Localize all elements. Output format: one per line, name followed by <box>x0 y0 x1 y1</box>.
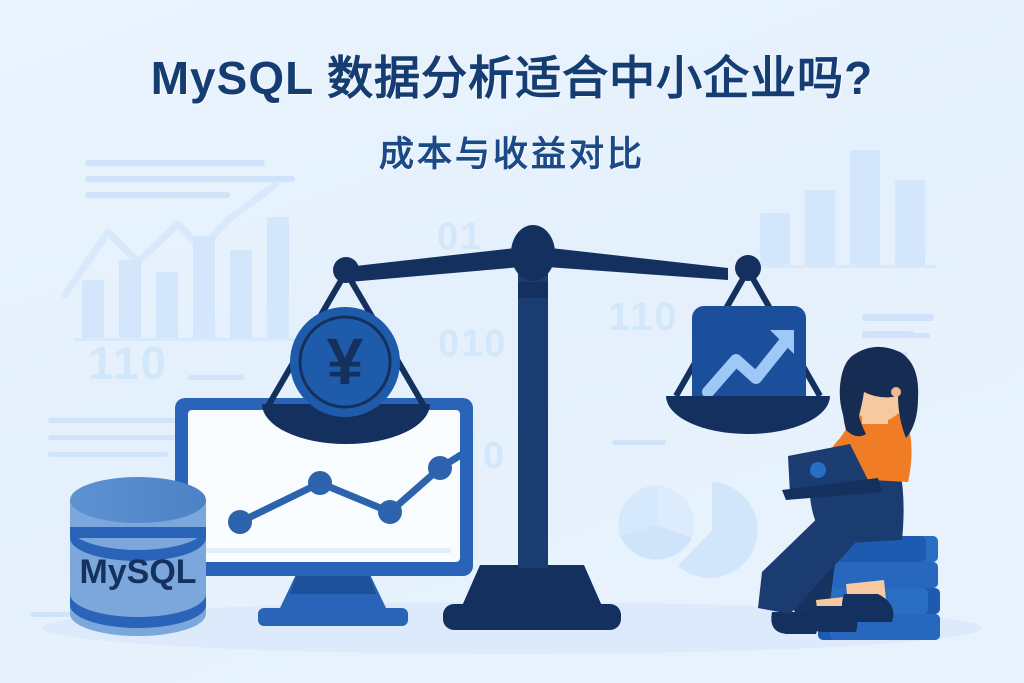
page-subtitle: 成本与收益对比 <box>0 126 1024 177</box>
mysql-database-cylinder: MySQL <box>70 477 206 636</box>
yen-coin: ¥ <box>290 307 400 417</box>
yen-symbol: ¥ <box>327 324 364 398</box>
database-label: MySQL <box>79 553 196 591</box>
page-title: MySQL 数据分析适合中小企业吗? <box>0 42 1024 108</box>
cover-illustration: 110 01 010 0 110 <box>0 0 1024 683</box>
headline-block: MySQL 数据分析适合中小企业吗? 成本与收益对比 <box>0 42 1024 177</box>
laptop-logo-icon <box>810 462 826 478</box>
